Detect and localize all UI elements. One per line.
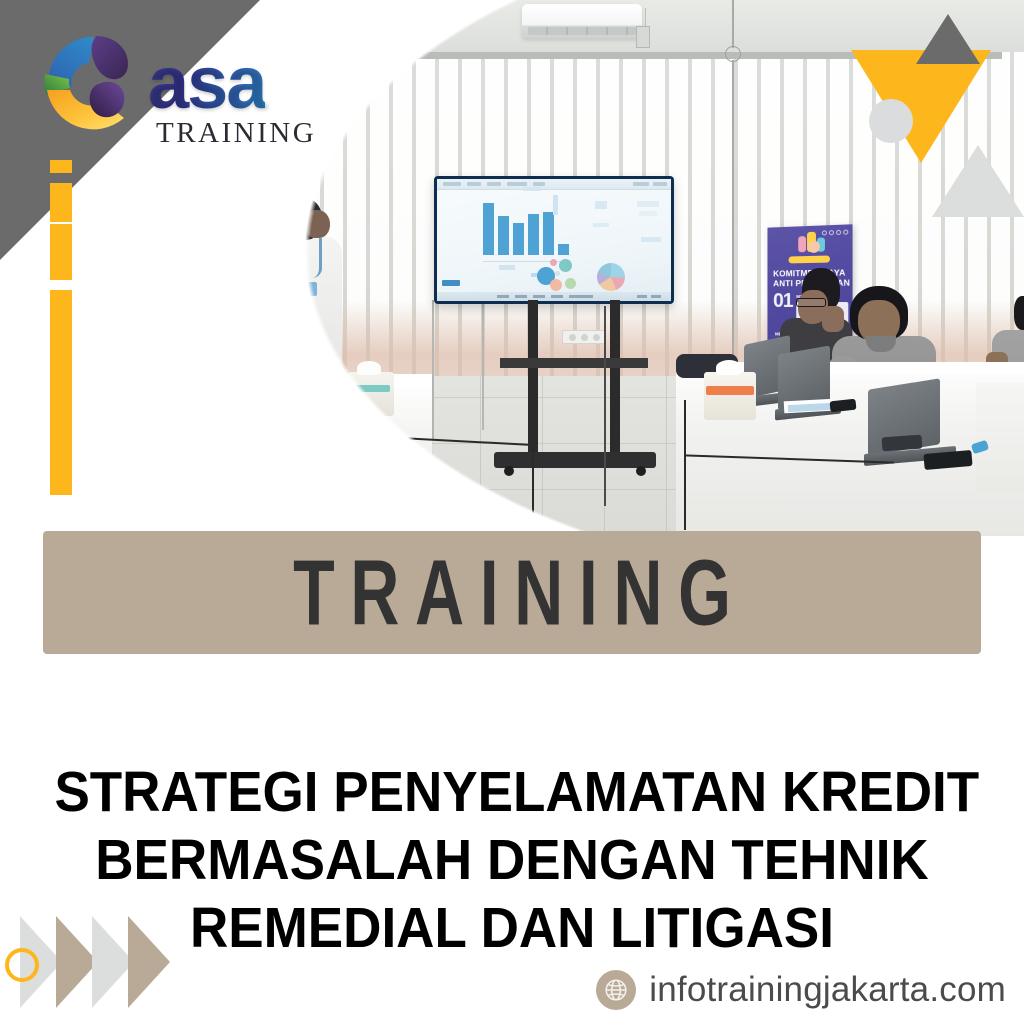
screen-toolbar (437, 179, 671, 190)
bubble (550, 279, 562, 291)
display-stand-pole (610, 300, 620, 452)
ui-chip (593, 223, 609, 227)
circle-light-gray (869, 99, 913, 143)
screen-content (437, 179, 671, 301)
yellow-dash-short (50, 160, 72, 173)
tripod-leg (482, 300, 484, 430)
triangle-up-light-gray (932, 145, 1024, 217)
tripod-leg (432, 300, 434, 440)
caster-wheel (636, 466, 646, 476)
participant-hand (822, 306, 844, 332)
bubble (550, 259, 557, 266)
tissue-box (704, 372, 756, 420)
ui-chip (639, 211, 657, 216)
title-line-1: STRATEGI PENYELAMATAN KREDIT (54, 758, 969, 826)
eyeglasses-icon (796, 298, 826, 307)
hanging-ring (292, 166, 303, 177)
yellow-dash-long (50, 224, 72, 280)
hanging-rod (732, 0, 734, 48)
bubble (559, 259, 572, 272)
presenter-lanyard (300, 238, 322, 278)
wall-box (636, 26, 650, 48)
ui-chip (595, 201, 607, 209)
power-cable (532, 440, 534, 526)
title-line-2: BERMASALAH DENGAN TEHNIK (54, 826, 969, 894)
circle-outline-yellow (5, 948, 39, 982)
banner-number-01: 01 (773, 290, 792, 313)
banner-chip (788, 255, 829, 263)
screen-taskbar (437, 292, 671, 301)
wall-socket (562, 330, 606, 344)
yellow-dash-longest (50, 290, 72, 495)
ui-chip (637, 201, 659, 207)
presenter-face (306, 210, 330, 238)
chart-label (499, 265, 515, 270)
website-footer[interactable]: infotrainingjakarta.com (596, 970, 1006, 1010)
casa-circular-logo-icon (30, 18, 160, 148)
remote-control (882, 435, 923, 452)
logo-subtitle: TRAINING (156, 119, 316, 148)
ui-chip (641, 237, 661, 242)
title-line-3: REMEDIAL DAN LITIGASI (54, 894, 969, 962)
chart-marker (553, 195, 558, 215)
display-stand-pole (528, 300, 538, 452)
power-cable (604, 306, 606, 506)
air-conditioner-icon (522, 4, 642, 38)
logo-wordmark: asa (148, 46, 265, 120)
website-url[interactable]: infotrainingjakarta.com (649, 970, 1006, 1010)
hanging-rod (732, 60, 734, 360)
pie-chart (597, 263, 625, 291)
far-table (976, 382, 1024, 492)
interactive-display-screen (434, 176, 674, 304)
triangle-down-gray (916, 14, 980, 64)
banner-illustration (796, 229, 832, 254)
page-title: STRATEGI PENYELAMATAN KREDIT BERMASALAH … (20, 758, 1004, 962)
chart-title-placeholder (523, 187, 541, 191)
presenter-badge (306, 282, 317, 296)
power-cable (684, 400, 686, 530)
display-stand-base (494, 452, 656, 468)
screen-tab-button (442, 280, 460, 286)
training-banner-label: TRAINING (277, 539, 746, 647)
bubble (565, 278, 576, 289)
casa-training-logo[interactable]: asa TRAINING (30, 18, 340, 158)
tissue-box (348, 372, 394, 416)
globe-icon (596, 970, 636, 1010)
display-stand-shelf (500, 358, 648, 368)
participant-head (1014, 296, 1024, 330)
caster-wheel (504, 466, 514, 476)
training-banner: TRAINING (43, 531, 981, 654)
front-table (232, 378, 432, 536)
training-poster: KOMITMEN SAYA ANTI PENYUAPAN 01 MENGHIND… (0, 0, 1024, 1024)
bubble (555, 271, 560, 276)
yellow-dash-medium (50, 183, 72, 222)
